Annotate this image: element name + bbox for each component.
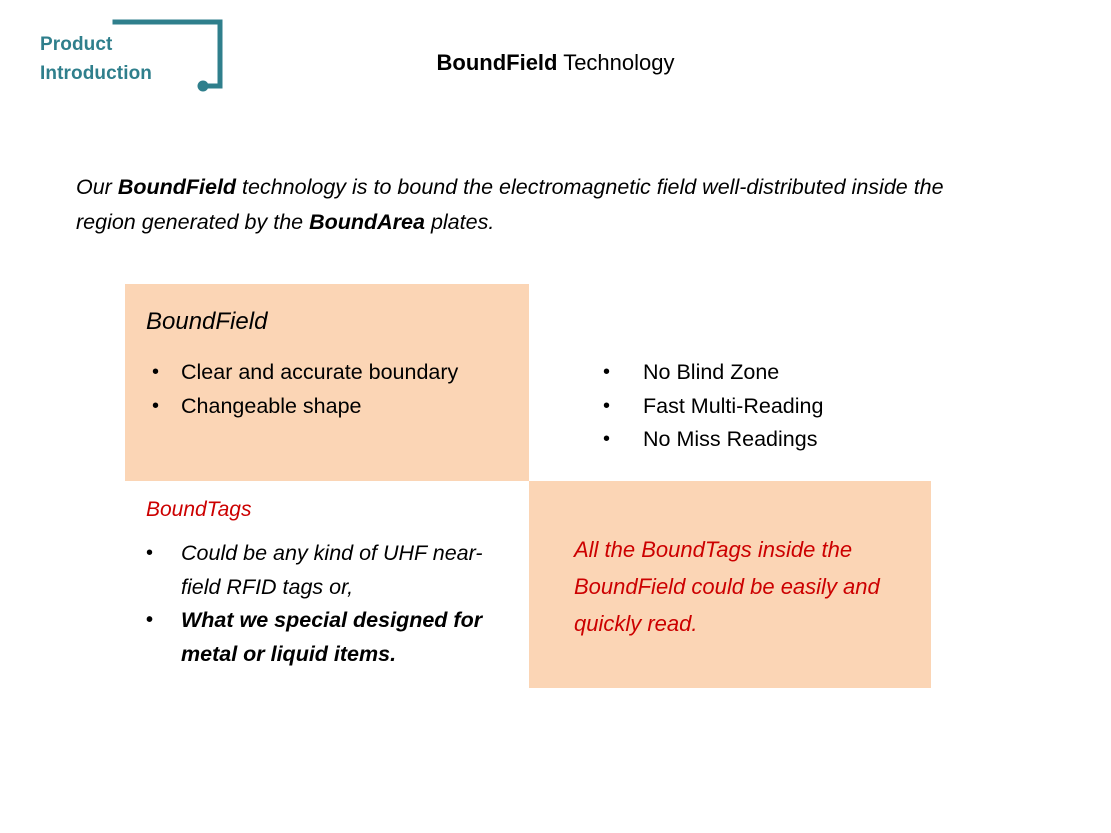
intro-paragraph: Our BoundField technology is to bound th… (76, 170, 1006, 240)
boundfield-bullet-list: Clear and accurate boundary Changeable s… (152, 356, 512, 423)
list-item: Fast Multi-Reading (603, 390, 963, 424)
list-item: Changeable shape (152, 390, 512, 424)
list-item: No Miss Readings (603, 423, 963, 457)
boundtags-heading: BoundTags (146, 496, 251, 523)
slide-canvas: { "logo": { "line1": "Product", "line2":… (0, 0, 1111, 833)
page-title-bold: BoundField (437, 50, 558, 75)
intro-post: plates. (425, 210, 494, 234)
intro-bold-boundarea: BoundArea (309, 210, 425, 234)
intro-pre: Our (76, 175, 118, 199)
features-bullet-list: No Blind Zone Fast Multi-Reading No Miss… (603, 356, 963, 457)
page-title-regular: Technology (557, 50, 674, 75)
boundtags-bullet-list: Could be any kind of UHF near-field RFID… (146, 537, 516, 671)
list-item: What we special designed for metal or li… (146, 604, 516, 671)
intro-bold-boundfield: BoundField (118, 175, 236, 199)
list-item: No Blind Zone (603, 356, 963, 390)
callout-text: All the BoundTags inside the BoundField … (574, 531, 904, 642)
boundfield-heading: BoundField (146, 307, 267, 337)
list-item: Clear and accurate boundary (152, 356, 512, 390)
list-item: Could be any kind of UHF near-field RFID… (146, 537, 516, 604)
page-title: BoundField Technology (0, 49, 1111, 77)
